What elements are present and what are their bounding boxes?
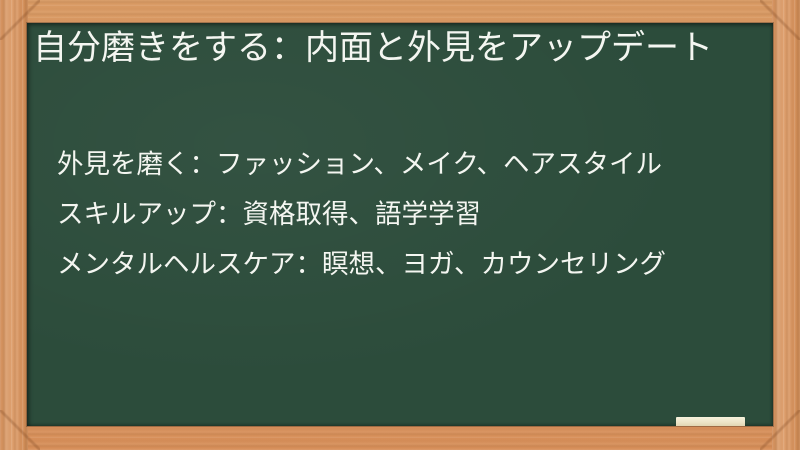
chalk-stick-icon (676, 417, 745, 426)
list-item: メンタルヘルスケア：瞑想、ヨガ、カウンセリング (33, 244, 749, 286)
frame-left-stile (0, 0, 28, 450)
frame-right-stile (772, 0, 800, 450)
slide-title: 自分磨きをする：内面と外見をアップデート (33, 25, 745, 72)
blackboard-frame: 自分磨きをする：内面と外見をアップデート 外見を磨く：ファッション、メイク、ヘア… (0, 0, 800, 450)
chalkboard-surface: 自分磨きをする：内面と外見をアップデート 外見を磨く：ファッション、メイク、ヘア… (27, 23, 773, 426)
list-item: 外見を磨く：ファッション、メイク、ヘアスタイル (33, 144, 749, 186)
list-item: スキルアップ：資格取得、語学学習 (33, 194, 749, 236)
slide-bullet-list: 外見を磨く：ファッション、メイク、ヘアスタイル スキルアップ：資格取得、語学学習… (33, 144, 749, 294)
